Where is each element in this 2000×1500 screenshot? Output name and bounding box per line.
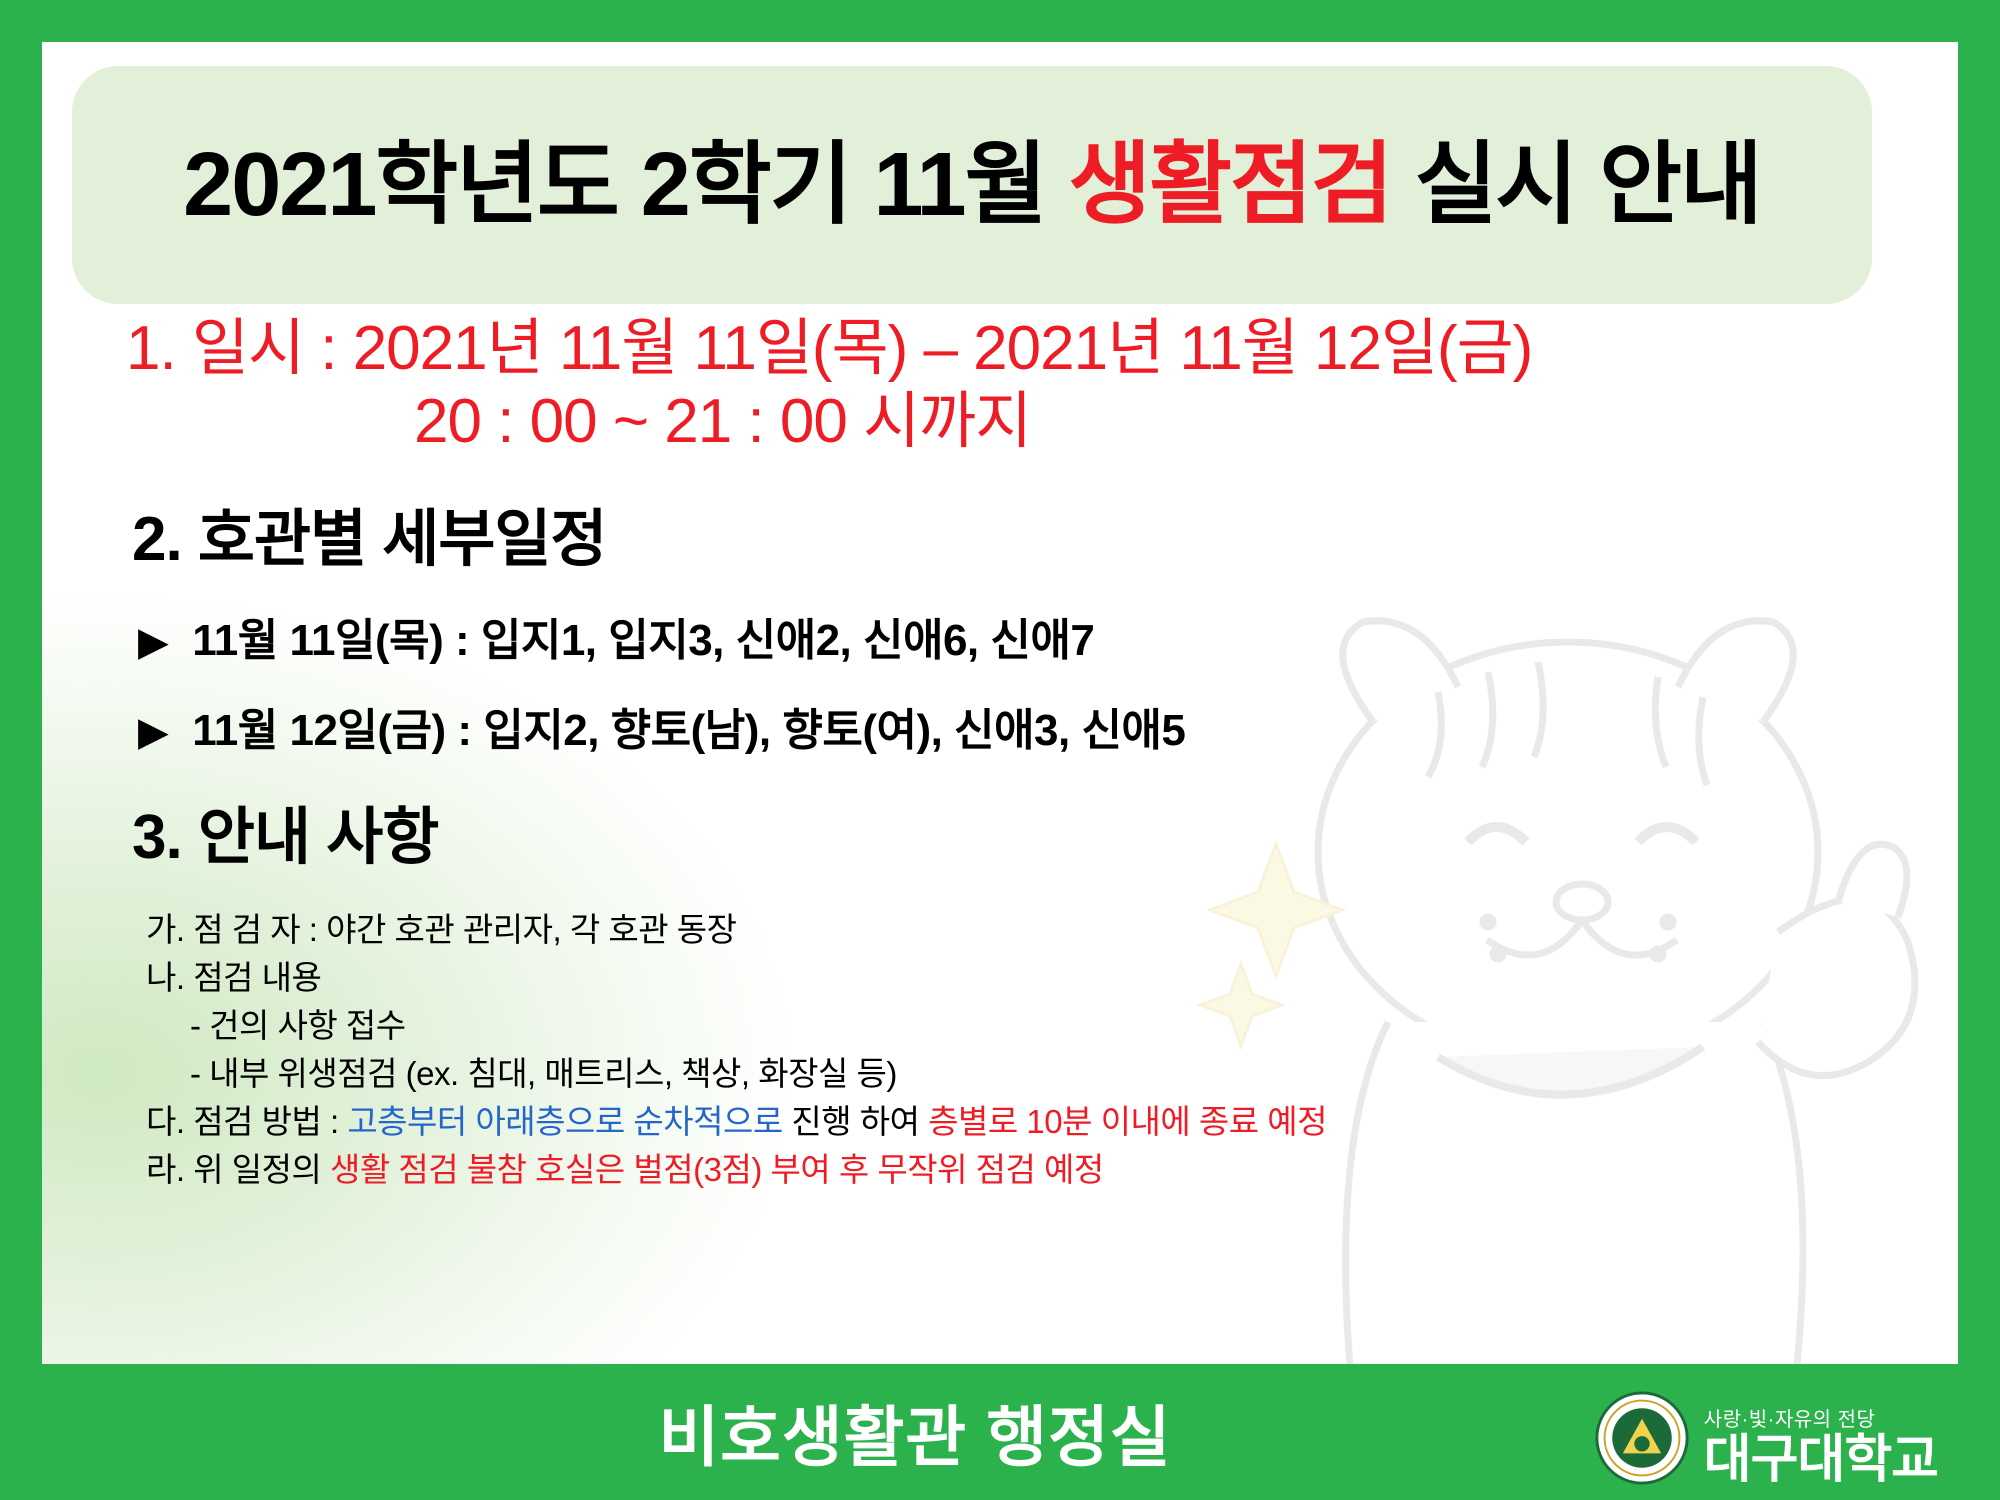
notice-item-c-blue: 고층부터 아래층으로 순차적으로	[347, 1103, 782, 1140]
triangle-right-icon: ▶	[138, 622, 168, 662]
poster-root: 2021학년도 2학기 11월 생활점검 실시 안내 1. 일시 : 2021년…	[0, 0, 2000, 1500]
bullet-label-day1: 11월 11일(목) : 입지1, 입지3, 신애2, 신애6, 신애7	[192, 604, 1094, 668]
notice-item-c-prefix: 다. 점검 방법 :	[146, 1103, 347, 1140]
section-heading-detail-schedule: 2. 호관별 세부일정	[42, 488, 1958, 578]
university-emblem-icon	[1594, 1390, 1690, 1486]
bullet-label-day2: 11월 12일(금) : 입지2, 향토(남), 향토(여), 신애3, 신애5	[192, 694, 1185, 758]
list-item: ▶ 11월 11일(목) : 입지1, 입지3, 신애2, 신애6, 신애7	[42, 604, 1958, 668]
notice-item-d-red: 생활 점검 불참 호실은 벌점(3점) 부여 후 무작위 점검 예정	[330, 1151, 1104, 1188]
brand-slogan: 사랑·빛·자유의 전당	[1704, 1403, 1876, 1432]
notice-item-c: 다. 점검 방법 : 고층부터 아래층으로 순차적으로 진행 하여 층별로 10…	[146, 1098, 1958, 1146]
university-brand: 사랑·빛·자유의 전당 대구대학교	[1594, 1390, 1938, 1486]
section-heading-notices: 3. 안내 사항	[42, 786, 1958, 876]
notice-list: 가. 점 검 자 : 야간 호관 관리자, 각 호관 동장 나. 점검 내용 -…	[42, 906, 1958, 1193]
notice-item-d: 라. 위 일정의 생활 점검 불참 호실은 벌점(3점) 부여 후 무작위 점검…	[146, 1146, 1958, 1194]
brand-name: 대구대학교	[1704, 1434, 1938, 1486]
notice-item-d-prefix: 라. 위 일정의	[146, 1151, 330, 1188]
schedule-line-2: 20 : 00 ~ 21 : 00 시까지	[42, 385, 1958, 458]
footer-bar: 비호생활관 행정실 사랑·빛·자유의 전당 대구대학교	[0, 1364, 2000, 1500]
footer-office-name: 비호생활관 행정실	[658, 1384, 1171, 1480]
triangle-right-icon: ▶	[138, 712, 168, 752]
notice-item-c-red: 층별로 10분 이내에 종료 예정	[928, 1103, 1327, 1140]
notice-item-b: 나. 점검 내용	[146, 954, 1958, 1002]
brand-text-block: 사랑·빛·자유의 전당 대구대학교	[1704, 1403, 1938, 1486]
notice-item-a: 가. 점 검 자 : 야간 호관 관리자, 각 호관 동장	[146, 906, 1958, 954]
notice-item-b2: - 내부 위생점검 (ex. 침대, 매트리스, 책상, 화장실 등)	[146, 1050, 1958, 1098]
poster-sheet: 2021학년도 2학기 11월 생활점검 실시 안내 1. 일시 : 2021년…	[42, 42, 1958, 1364]
notice-item-b1: - 건의 사항 접수	[146, 1002, 1958, 1050]
notice-item-b1-label: - 건의 사항 접수	[146, 1002, 406, 1050]
notice-item-b2-label: - 내부 위생점검 (ex. 침대, 매트리스, 책상, 화장실 등)	[146, 1050, 897, 1098]
notice-item-c-mid: 진행 하여	[783, 1103, 928, 1140]
poster-content: 1. 일시 : 2021년 11월 11일(목) – 2021년 11월 12일…	[42, 42, 1958, 1193]
list-item: ▶ 11월 12일(금) : 입지2, 향토(남), 향토(여), 신애3, 신…	[42, 694, 1958, 758]
schedule-line-1: 1. 일시 : 2021년 11월 11일(목) – 2021년 11월 12일…	[42, 312, 1958, 385]
